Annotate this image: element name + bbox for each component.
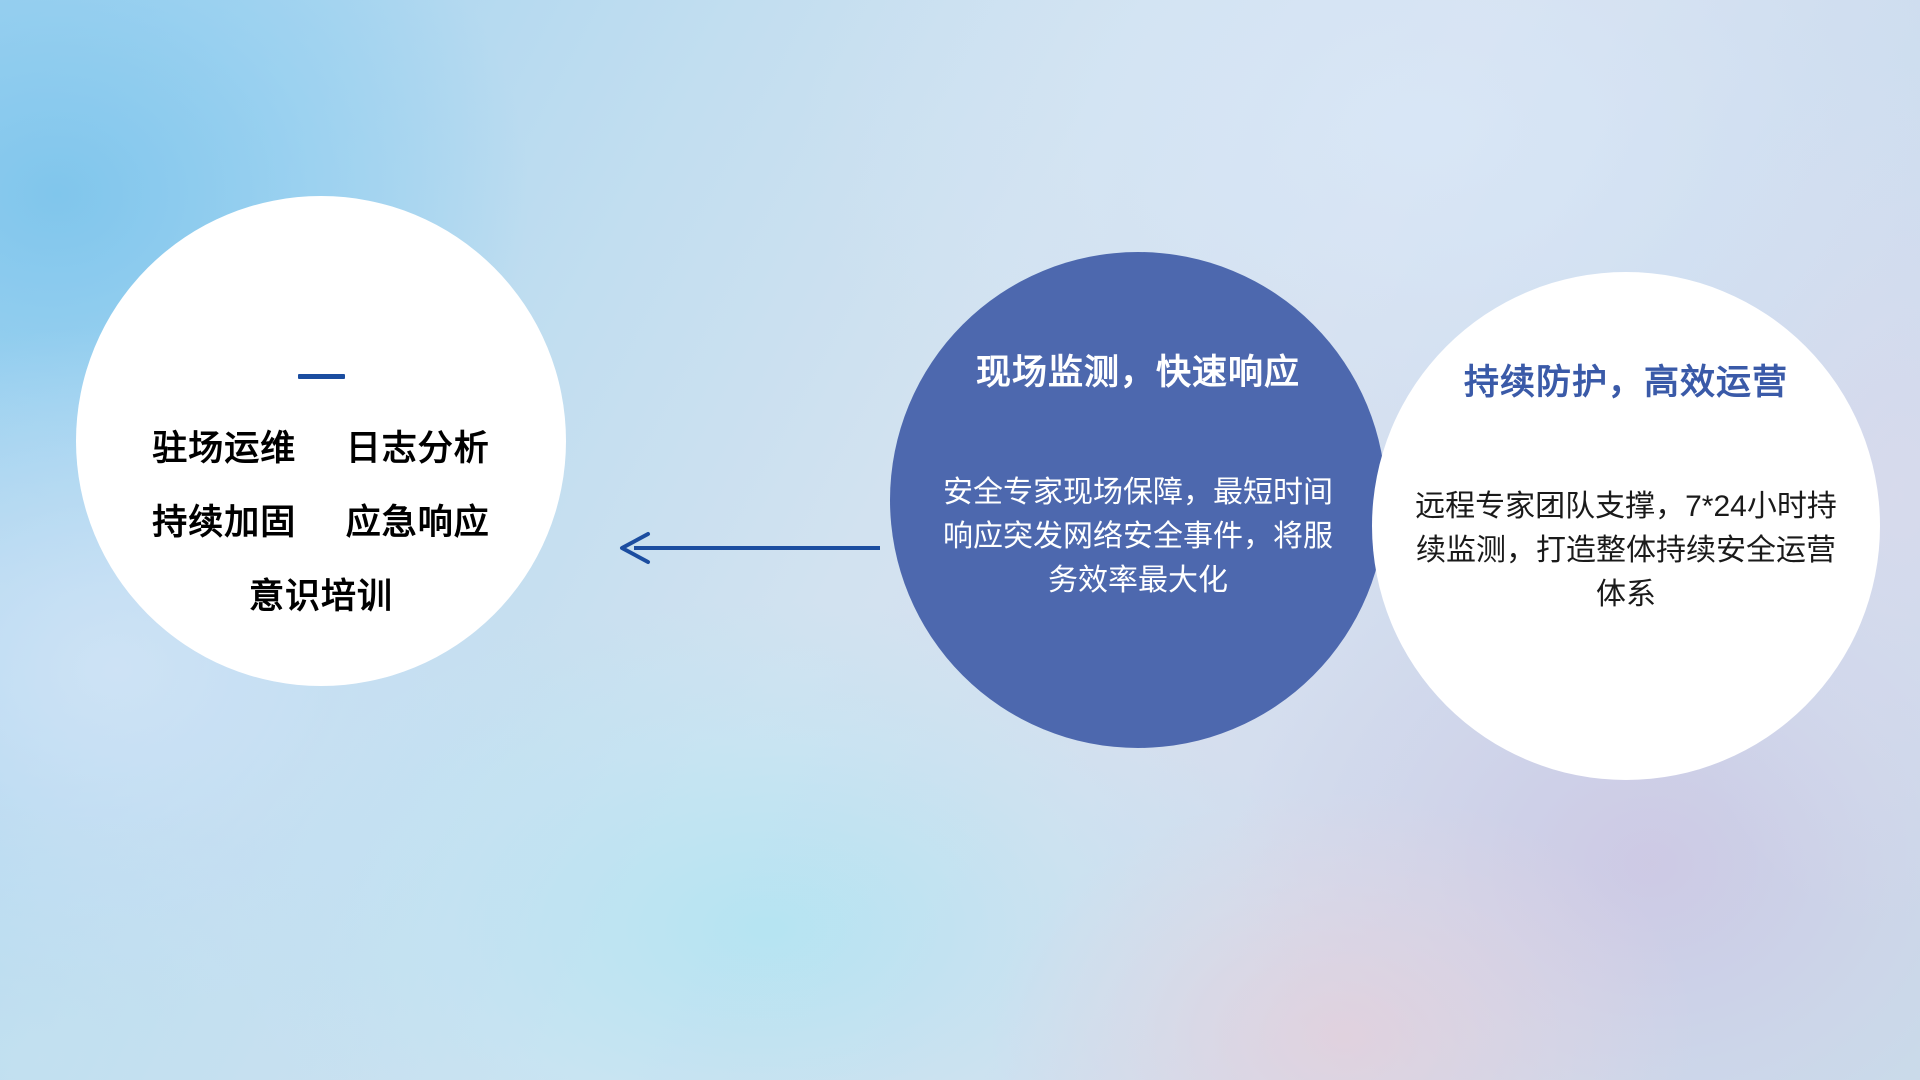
middle-circle-body-text: 安全专家现场保障，最短时间响应突发网络安全事件，将服务效率最大化	[886, 471, 1390, 603]
middle-circle-content: 现场监测，快速响应 安全专家现场保障，最短时间响应突发网络安全事件，将服务效率最…	[886, 354, 1390, 603]
capability-label-emergency-response: 应急响应	[346, 503, 490, 542]
middle-circle-heading: 现场监测，快速响应	[886, 354, 1390, 393]
left-capability-circle[interactable]: 驻场运维 日志分析 持续加固 应急响应 意识培训	[76, 196, 566, 686]
middle-onsite-monitoring-circle[interactable]: 现场监测，快速响应 安全专家现场保障，最短时间响应突发网络安全事件，将服务效率最…	[890, 252, 1386, 748]
capability-label-onsite-ops: 驻场运维	[152, 429, 296, 468]
right-circle-content: 持续防护，高效运营 远程专家团队支撑，7*24小时持续监测，打造整体持续安全运营…	[1372, 364, 1880, 617]
capability-label-log-analysis: 日志分析	[346, 429, 490, 468]
left-circle-content: 驻场运维 日志分析 持续加固 应急响应 意识培训	[76, 374, 566, 614]
capability-label-continuous-hardening: 持续加固	[152, 503, 296, 542]
right-circle-body-text: 远程专家团队支撑，7*24小时持续监测，打造整体持续安全运营体系	[1372, 485, 1880, 617]
capability-label-awareness-training: 意识培训	[249, 577, 393, 616]
capability-row-1: 驻场运维 日志分析	[76, 431, 566, 466]
capability-row-2: 持续加固 应急响应	[76, 505, 566, 540]
right-circle-heading: 持续防护，高效运营	[1372, 364, 1880, 403]
slide-canvas: 驻场运维 日志分析 持续加固 应急响应 意识培训 现场监测，快速响应 安全专家现…	[0, 0, 1920, 1080]
capability-row-3: 意识培训	[76, 579, 566, 614]
left-pointing-arrow-icon	[608, 522, 880, 574]
right-continuous-protection-circle[interactable]: 持续防护，高效运营 远程专家团队支撑，7*24小时持续监测，打造整体持续安全运营…	[1372, 272, 1880, 780]
divider-rule-icon	[298, 374, 345, 379]
